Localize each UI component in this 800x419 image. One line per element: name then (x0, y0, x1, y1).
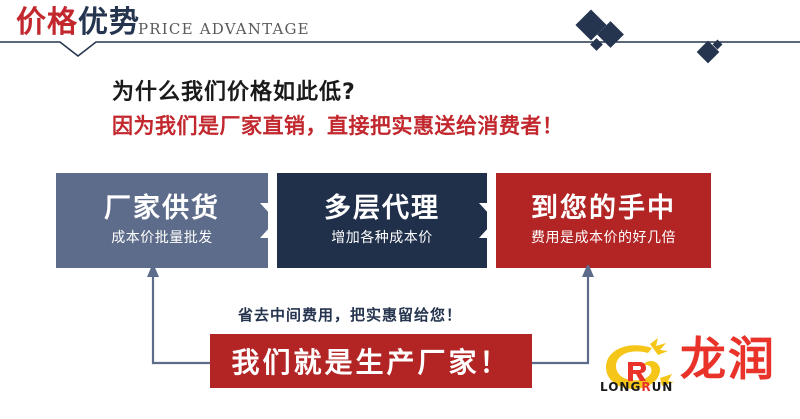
section-title-navy: 优势 (78, 5, 140, 40)
headline-answer: 因为我们是厂家直销，直接把实惠送给消费者！ (112, 110, 564, 140)
flow-step-manufacturer: 厂家供货 成本价批量批发 (56, 173, 268, 268)
factory-claim-text: 我们就是生产厂家！ (231, 341, 510, 381)
flow-step-subtitle: 增加各种成本价 (331, 228, 433, 248)
logo-chinese-name: 龙润 (680, 330, 776, 388)
flow-step-subtitle: 费用是成本价的好几倍 (531, 228, 676, 248)
flow-step-agents: 多层代理 增加各种成本价 (277, 173, 487, 268)
flow-step-title: 多层代理 (324, 193, 440, 225)
section-title: 价格优势 (16, 6, 140, 40)
headline-question: 为什么我们价格如此低? (112, 74, 356, 106)
company-logo: LONGRUN 龙润 (598, 332, 794, 402)
supply-chain-flow: 厂家供货 成本价批量批发 多层代理 增加各种成本价 到您的手中 费用是成本价的好… (56, 173, 746, 268)
logo-latin-text: LONGRUN (600, 380, 673, 394)
section-title-red: 价格 (16, 5, 78, 40)
section-subtitle: PRICE ADVANTAGE (138, 20, 310, 38)
price-advantage-banner: 价格优势 PRICE ADVANTAGE 为什么我们价格如此低? 因为我们是厂家… (0, 0, 800, 419)
flow-step-title: 到您的手中 (531, 193, 676, 225)
logo-latin-right: UN (652, 380, 674, 394)
factory-claim-banner: 我们就是生产厂家！ (210, 334, 532, 388)
flow-step-title: 厂家供货 (104, 193, 220, 225)
flow-step-subtitle: 成本价批量批发 (111, 228, 213, 248)
arrow-up-left-icon (147, 265, 159, 295)
savings-note: 省去中间费用，把实惠留给您！ (238, 304, 462, 325)
logo-latin-r: R (641, 380, 651, 394)
logo-latin-left: LONG (600, 380, 641, 394)
header-divider (0, 40, 800, 58)
arrow-up-right-icon (582, 265, 594, 295)
flow-step-customer: 到您的手中 费用是成本价的好几倍 (496, 173, 711, 268)
